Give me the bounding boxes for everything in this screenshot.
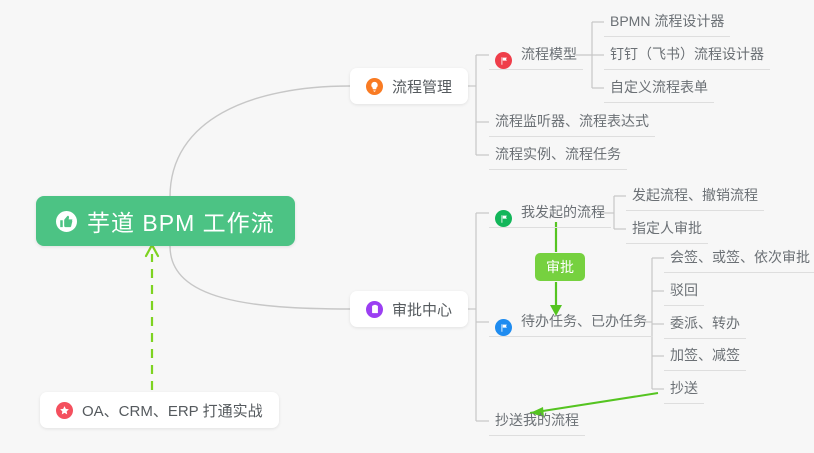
flag-icon (495, 210, 512, 227)
branch-approval-center[interactable]: 审批中心 (350, 291, 468, 327)
leaf-countersign-orsign-sequential[interactable]: 会签、或签、依次审批 (664, 243, 814, 273)
leaf-process-instance-task[interactable]: 流程实例、流程任务 (489, 140, 627, 170)
leaf-my-started-processes[interactable]: 我发起的流程 (489, 198, 611, 228)
leaf-delegate-transfer[interactable]: 委派、转办 (664, 309, 746, 339)
leaf-label: BPMN 流程设计器 (610, 11, 724, 36)
leaf-label: 钉钉（飞书）流程设计器 (610, 44, 764, 69)
mindmap-canvas: 芋道 BPM 工作流 流程管理 流程模型 BPMN 流程设计器 钉钉（飞书）流程… (0, 0, 814, 453)
detached-label: OA、CRM、ERP 打通实战 (82, 400, 263, 421)
leaf-process-model[interactable]: 流程模型 (489, 40, 583, 70)
leaf-cc[interactable]: 抄送 (664, 374, 704, 404)
approval-badge[interactable]: 审批 (535, 253, 585, 281)
leaf-label: 发起流程、撤销流程 (632, 185, 758, 210)
leaf-label: 加签、减签 (670, 345, 740, 370)
leaf-bpmn-designer[interactable]: BPMN 流程设计器 (604, 7, 730, 37)
clipboard-icon (366, 301, 383, 318)
leaf-dingtalk-feishu-designer[interactable]: 钉钉（飞书）流程设计器 (604, 40, 770, 70)
leaf-label: 待办任务、已办任务 (521, 311, 647, 336)
lightbulb-icon (366, 78, 383, 95)
leaf-assignee-approval[interactable]: 指定人审批 (626, 214, 708, 244)
leaf-label: 委派、转办 (670, 313, 740, 338)
leaf-label: 流程监听器、流程表达式 (495, 111, 649, 136)
leaf-reject[interactable]: 驳回 (664, 276, 704, 306)
leaf-todo-done-tasks[interactable]: 待办任务、已办任务 (489, 307, 653, 337)
flag-icon (495, 319, 512, 336)
star-icon (56, 402, 73, 419)
thumbs-up-icon (56, 211, 77, 232)
root-label: 芋道 BPM 工作流 (87, 204, 275, 238)
leaf-label: 抄送 (670, 378, 698, 403)
leaf-start-cancel-process[interactable]: 发起流程、撤销流程 (626, 181, 764, 211)
leaf-label: 自定义流程表单 (610, 77, 708, 102)
branch-label: 流程管理 (392, 76, 452, 97)
branch-process-management[interactable]: 流程管理 (350, 68, 468, 104)
leaf-label: 指定人审批 (632, 218, 702, 243)
detached-node-oa-crm-erp[interactable]: OA、CRM、ERP 打通实战 (40, 392, 279, 428)
leaf-label: 流程实例、流程任务 (495, 144, 621, 169)
leaf-label: 抄送我的流程 (495, 410, 579, 435)
root-node[interactable]: 芋道 BPM 工作流 (36, 196, 295, 246)
leaf-label: 我发起的流程 (521, 202, 605, 227)
leaf-label: 驳回 (670, 280, 698, 305)
leaf-process-listener-expression[interactable]: 流程监听器、流程表达式 (489, 107, 655, 137)
leaf-label: 流程模型 (521, 44, 577, 69)
leaf-label: 会签、或签、依次审批 (670, 247, 810, 272)
leaf-add-remove-sign[interactable]: 加签、减签 (664, 341, 746, 371)
badge-label: 审批 (546, 257, 574, 277)
flag-icon (495, 52, 512, 69)
branch-label: 审批中心 (392, 299, 452, 320)
leaf-custom-process-form[interactable]: 自定义流程表单 (604, 73, 714, 103)
leaf-cc-to-me-processes[interactable]: 抄送我的流程 (489, 406, 585, 436)
